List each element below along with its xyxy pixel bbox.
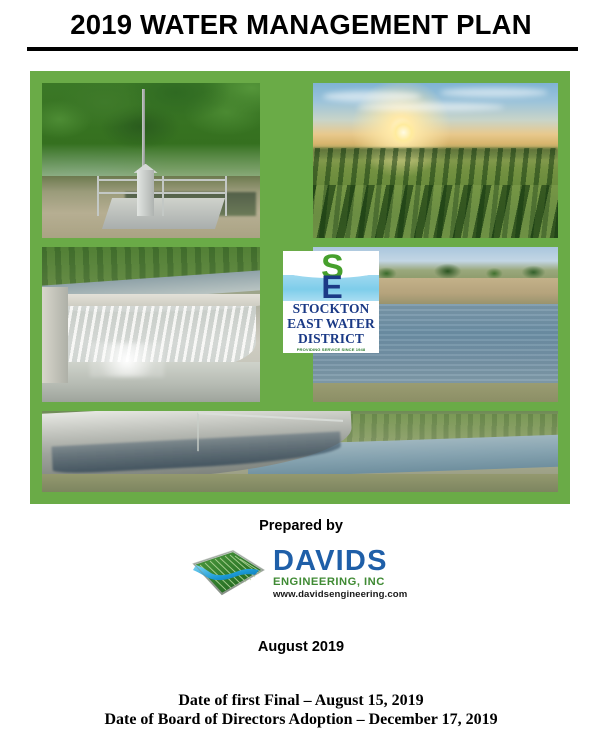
rail-post bbox=[225, 176, 227, 216]
davids-name: DAVIDS bbox=[273, 546, 419, 576]
photo-flow-meter-station-scene bbox=[42, 83, 260, 238]
photo-concrete-spillway-scene bbox=[42, 247, 260, 402]
photo-flow-meter-station bbox=[42, 83, 260, 238]
vineyard-rows-near bbox=[313, 185, 558, 238]
district-logo-mark: S E bbox=[283, 251, 379, 301]
near-bank bbox=[42, 474, 558, 492]
near-shoreline bbox=[313, 383, 558, 402]
photo-concrete-spillway bbox=[42, 247, 260, 402]
photo-vineyard-sunset bbox=[313, 83, 558, 238]
cover-photo-collage: S E STOCKTON EAST WATER DISTRICT PROVIDI… bbox=[30, 71, 570, 504]
rail-post bbox=[162, 176, 164, 216]
rail-post bbox=[97, 176, 99, 216]
cloud bbox=[357, 103, 504, 111]
davids-website-url: www.davidsengineering.com bbox=[273, 589, 419, 601]
final-date-block: Date of first Final – August 15, 2019 Da… bbox=[0, 691, 602, 729]
davids-subtitle: ENGINEERING, INC bbox=[273, 576, 419, 589]
district-name-line-3: DISTRICT bbox=[283, 332, 379, 346]
title-divider-rule bbox=[27, 47, 578, 51]
stockton-east-water-district-logo: S E STOCKTON EAST WATER DISTRICT PROVIDI… bbox=[283, 251, 379, 353]
date-board-adoption: Date of Board of Directors Adoption – De… bbox=[0, 710, 602, 729]
publication-date: August 2019 bbox=[0, 639, 602, 655]
district-name-line-2: EAST WATER bbox=[283, 317, 379, 331]
instrument-housing bbox=[137, 170, 154, 217]
concrete-pad bbox=[102, 198, 225, 229]
letter-e-icon: E bbox=[309, 274, 355, 301]
photo-vineyard-sunset-scene bbox=[313, 83, 558, 238]
prepared-by-label: Prepared by bbox=[0, 518, 602, 534]
cloud bbox=[440, 88, 548, 97]
cloud bbox=[323, 91, 421, 102]
photo-pipeline-canal-scene bbox=[42, 411, 558, 492]
davids-wordmark: DAVIDS ENGINEERING, INC www.davidsengine… bbox=[273, 546, 419, 602]
district-tagline: PROVIDING SERVICE SINCE 1948 bbox=[283, 347, 379, 352]
davids-field-emblem-icon bbox=[189, 548, 267, 600]
date-first-final: Date of first Final – August 15, 2019 bbox=[0, 691, 602, 710]
side-wall bbox=[42, 287, 68, 383]
page-title: 2019 WATER MANAGEMENT PLAN bbox=[0, 9, 602, 41]
access-gantry bbox=[197, 412, 343, 459]
photo-pipeline-canal bbox=[42, 411, 558, 492]
sun-glow bbox=[391, 120, 416, 145]
white-foam bbox=[90, 343, 164, 377]
davids-engineering-logo: DAVIDS ENGINEERING, INC www.davidsengine… bbox=[189, 546, 419, 602]
